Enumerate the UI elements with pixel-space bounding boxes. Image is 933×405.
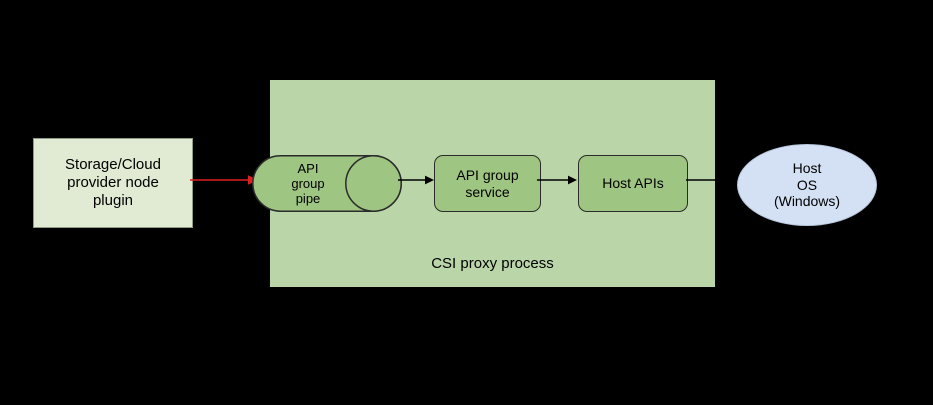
diagram-canvas: Storage/Cloud provider node plugin CSI p… (0, 0, 933, 405)
host-apis-label: Host APIs (602, 175, 663, 192)
host-apis-box[interactable]: Host APIs (578, 155, 688, 212)
api-group-service-label: API group service (456, 167, 518, 200)
node-plugin-label: Storage/Cloud provider node plugin (65, 156, 161, 209)
api-group-service-box[interactable]: API group service (434, 155, 541, 212)
arrowhead-icon (425, 176, 434, 185)
connector-plugin-to-pipe (190, 173, 260, 187)
connector-host-apis-to-host-os (686, 177, 716, 183)
host-os-label: Host OS (Windows) (774, 160, 840, 210)
csi-proxy-process-label: CSI proxy process (270, 255, 715, 273)
node-plugin-box[interactable]: Storage/Cloud provider node plugin (33, 138, 193, 228)
api-group-pipe-label: API group pipe (252, 155, 364, 212)
connector-pipe-to-service (398, 173, 436, 187)
connector-service-to-host-apis (537, 173, 579, 187)
host-os-ellipse[interactable]: Host OS (Windows) (737, 144, 877, 226)
api-group-pipe-shape[interactable]: API group pipe (252, 155, 402, 212)
arrowhead-icon (568, 176, 577, 185)
